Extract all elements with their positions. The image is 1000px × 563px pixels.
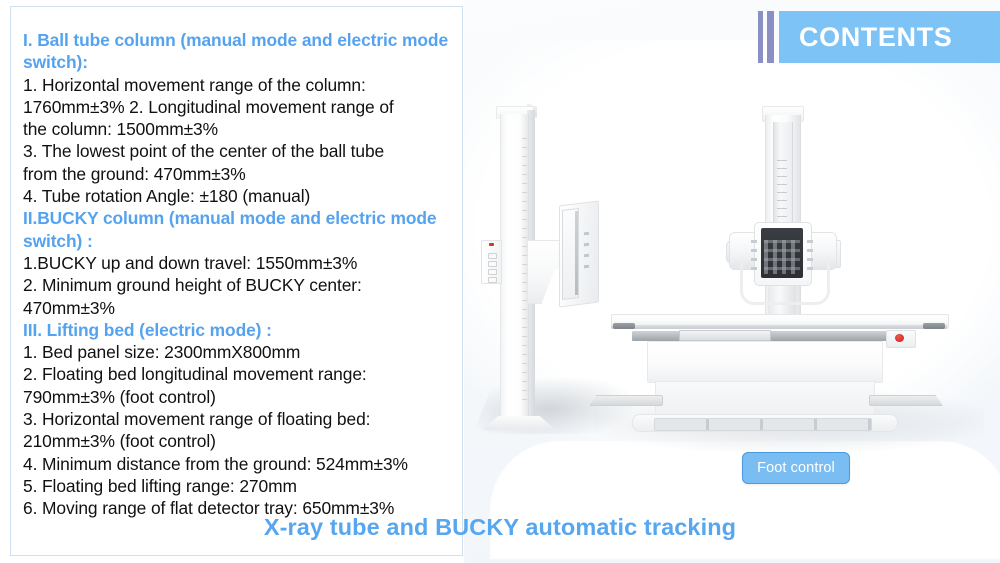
- bed-left-end-cap: [613, 323, 635, 329]
- bucky-control-button-4[interactable]: [488, 277, 497, 283]
- spec-bed-item-3-horizontal-range-cont: 210mm±3% (foot control): [23, 430, 452, 452]
- xray-system-illustration: [464, 0, 1000, 563]
- spec-bucky-item-2-min-height-cont: 470mm±3%: [23, 297, 452, 319]
- bucky-detector-buttons[interactable]: [584, 232, 589, 273]
- bed-right-support-arm: [869, 395, 943, 406]
- spec-bed-item-1-panel-size: 1. Bed panel size: 2300mmX800mm: [23, 341, 452, 363]
- bucky-detector-cassette-slot: [575, 211, 578, 295]
- bucky-control-button-3[interactable]: [488, 269, 497, 275]
- spec-heading-ball-tube-column: I. Ball tube column (manual mode and ele…: [23, 29, 452, 51]
- spec-heading-bucky-column: II.BUCKY column (manual mode and electri…: [23, 207, 452, 229]
- product-image-pane: Foot control: [464, 0, 1000, 563]
- specification-text-block: I. Ball tube column (manual mode and ele…: [11, 7, 462, 520]
- banner-title-text: CONTENTS: [799, 22, 952, 53]
- spec-bed-item-2-longitudinal-range-cont: 790mm±3% (foot control): [23, 386, 452, 408]
- slide-root: I. Ball tube column (manual mode and ele…: [0, 0, 1000, 563]
- bucky-column-scale-markings: [522, 138, 527, 408]
- foot-control-label: Foot control: [757, 460, 835, 476]
- banner-accent-bar-2: [767, 11, 774, 63]
- spec-item-3-lowest-point-cont: from the ground: 470mm±3%: [23, 163, 452, 185]
- spec-heading-lifting-bed: III. Lifting bed (electric mode) :: [23, 319, 452, 341]
- bed-left-support-arm: [589, 395, 663, 406]
- bed-right-end-cap: [923, 323, 945, 329]
- spec-item-4-tube-rotation-angle: 4. Tube rotation Angle: ±180 (manual): [23, 185, 452, 207]
- bucky-control-button-1[interactable]: [488, 253, 497, 259]
- spec-bed-item-5-lifting-range: 5. Floating bed lifting range: 270mm: [23, 475, 452, 497]
- bed-foot-pedal-bar[interactable]: [654, 418, 872, 431]
- bed-upper-cabinet: [647, 341, 883, 383]
- foot-control-callout: Foot control: [742, 452, 850, 484]
- banner-title-block: CONTENTS: [779, 11, 1000, 63]
- emergency-stop-button-icon[interactable]: [895, 334, 904, 342]
- spec-heading-ball-tube-column-cont: switch):: [23, 51, 452, 73]
- spec-item-3-lowest-point: 3. The lowest point of the center of the…: [23, 140, 452, 162]
- spec-bucky-item-2-min-height: 2. Minimum ground height of BUCKY center…: [23, 274, 452, 296]
- bucky-control-box[interactable]: [481, 240, 502, 284]
- product-caption: X-ray tube and BUCKY automatic tracking: [0, 514, 1000, 541]
- bucky-indicator-light-icon: [489, 243, 494, 246]
- spec-bed-item-3-horizontal-range: 3. Horizontal movement range of floating…: [23, 408, 452, 430]
- spec-heading-bucky-column-cont: switch) :: [23, 230, 452, 252]
- bed-detector-tray: [679, 330, 771, 341]
- specification-panel: I. Ball tube column (manual mode and ele…: [10, 6, 463, 556]
- spec-bucky-item-1-travel: 1.BUCKY up and down travel: 1550mm±3%: [23, 252, 452, 274]
- spec-item-1-horizontal-range-cont: 1760mm±3% 2. Longitudinal movement range…: [23, 96, 452, 118]
- tube-head-grab-handle[interactable]: [740, 258, 830, 305]
- spec-item-2-longitudinal-range-cont: the column: 1500mm±3%: [23, 118, 452, 140]
- banner-accent-bar-1: [758, 11, 763, 63]
- spec-bed-item-4-min-distance: 4. Minimum distance from the ground: 524…: [23, 453, 452, 475]
- spec-item-1-horizontal-range: 1. Horizontal movement range of the colu…: [23, 74, 452, 96]
- bucky-control-button-2[interactable]: [488, 261, 497, 267]
- product-caption-text: X-ray tube and BUCKY automatic tracking: [264, 514, 736, 540]
- bed-table-top-edge: [611, 325, 947, 329]
- spec-bed-item-2-longitudinal-range: 2. Floating bed longitudinal movement ra…: [23, 363, 452, 385]
- contents-banner: CONTENTS: [758, 11, 1000, 63]
